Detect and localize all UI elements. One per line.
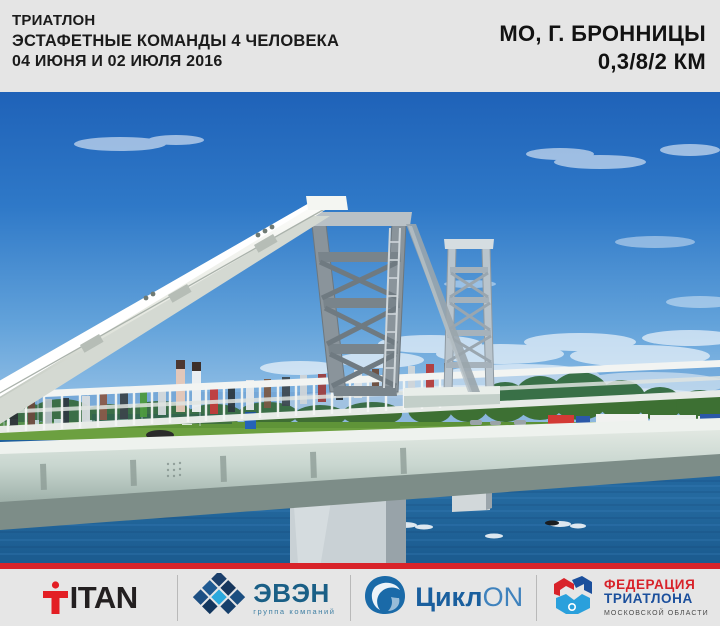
cyclon-wordmark-light: ON <box>483 582 524 612</box>
banner-header: ТРИАТЛОН ЭСТАФЕТНЫЕ КОМАНДЫ 4 ЧЕЛОВЕКА 0… <box>0 0 720 92</box>
header-distances: 0,3/8/2 КМ <box>499 48 706 76</box>
event-banner: ТРИАТЛОН ЭСТАФЕТНЫЕ КОМАНДЫ 4 ЧЕЛОВЕКА 0… <box>0 0 720 626</box>
federation-line-2: ТРИАТЛОНА <box>604 592 709 606</box>
even-tagline: группа компаний <box>253 608 335 616</box>
sponsor-footer: ITAN <box>0 569 720 626</box>
header-title-discipline: ТРИАТЛОН <box>12 11 339 31</box>
bridge-photo-illustration <box>0 92 720 563</box>
header-right-block: МО, Г. БРОННИЦЫ 0,3/8/2 КМ <box>499 0 720 75</box>
federation-line-1: ФЕДЕРАЦИЯ <box>604 578 709 592</box>
cyclon-wordmark-bold: Цикл <box>415 582 482 612</box>
titan-wordmark: ITAN <box>70 582 138 613</box>
cyclon-swirl-icon <box>363 574 407 621</box>
header-title-dates: 04 ИЮНЯ И 02 ИЮЛЯ 2016 <box>12 52 339 73</box>
sponsor-logo-titan[interactable]: ITAN <box>0 569 177 626</box>
federation-line-3: МОСКОВСКОЙ ОБЛАСТИ <box>604 610 709 617</box>
header-location: МО, Г. БРОННИЦЫ <box>499 20 706 48</box>
sponsor-logo-cyclon[interactable]: ЦиклON <box>351 569 536 626</box>
titan-figure-icon <box>40 581 71 615</box>
sponsor-logo-even[interactable]: ЭВЭН группа компаний <box>178 569 349 626</box>
header-title-format: ЭСТАФЕТНЫЕ КОМАНДЫ 4 ЧЕЛОВЕКА <box>12 31 339 52</box>
federation-athletes-icon <box>548 574 596 621</box>
sponsor-logo-federation[interactable]: ФЕДЕРАЦИЯ ТРИАТЛОНА МОСКОВСКОЙ ОБЛАСТИ <box>537 569 720 626</box>
header-left-block: ТРИАТЛОН ЭСТАФЕТНЫЕ КОМАНДЫ 4 ЧЕЛОВЕКА 0… <box>0 0 339 73</box>
even-diamond-icon <box>192 573 246 622</box>
bridge-photo <box>0 92 720 563</box>
even-wordmark: ЭВЭН <box>253 580 335 606</box>
